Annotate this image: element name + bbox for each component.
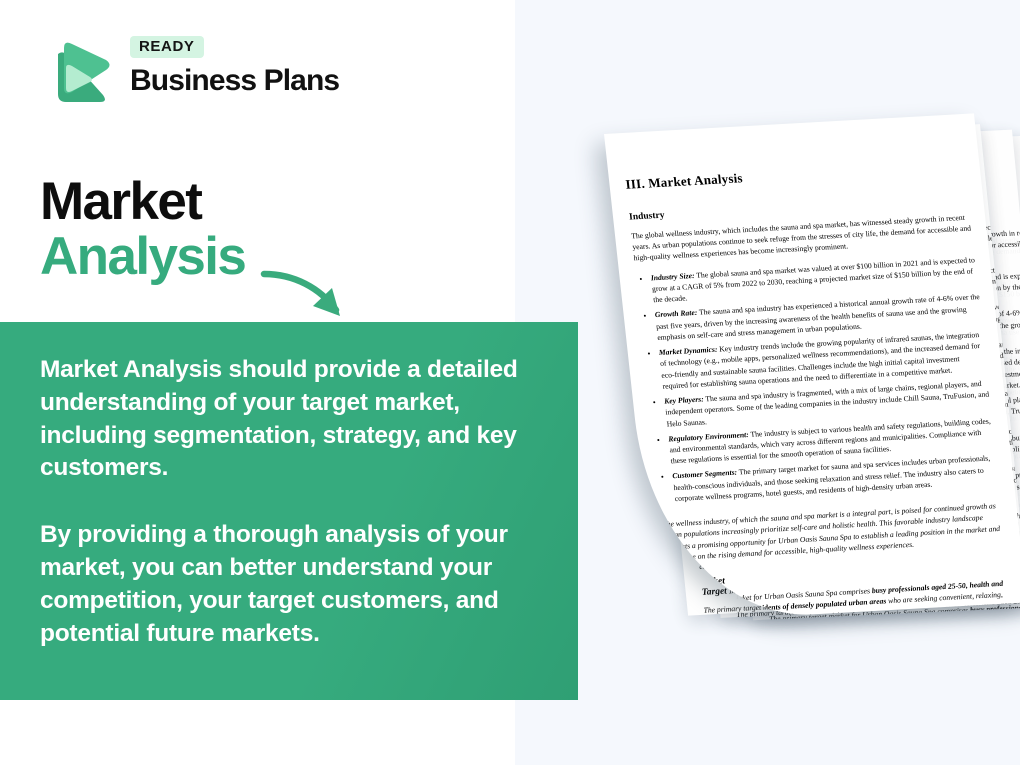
document-bullet-list: Industry Size: The global sauna and spa … [635, 254, 1000, 505]
document-bullet-term: Industry Size: [650, 271, 695, 282]
document-conclusion-paragraph: The wellness industry, of which the saun… [662, 500, 1007, 564]
document-title: III. Market Analysis [625, 158, 967, 193]
document-page-front[interactable]: III. Market Analysis Industry The global… [604, 113, 1020, 623]
document-content: III. Market Analysis Industry The global… [625, 158, 1015, 623]
document-stack: III. Market Analysis Industry The global… [0, 0, 1020, 765]
document-bullet-term: Key Players: [664, 395, 704, 406]
slide-canvas: READY Business Plans Market Analysis Mar… [0, 0, 1020, 765]
document-bullet-term: Growth Rate: [654, 308, 697, 319]
